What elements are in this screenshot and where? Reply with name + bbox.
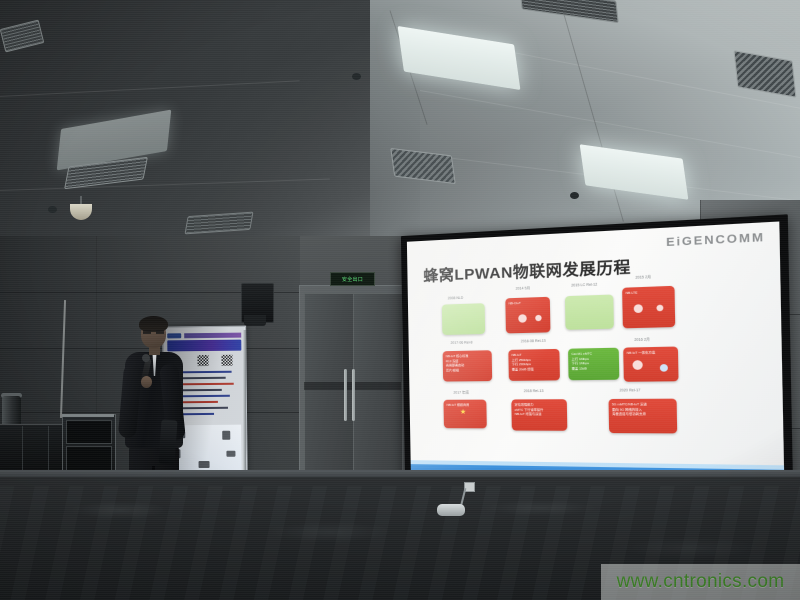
timeline-node — [565, 294, 614, 329]
node-label: 2016 2月 — [634, 336, 650, 342]
banner-device-thumb — [222, 431, 230, 440]
wall-speaker-bracket — [244, 315, 266, 326]
star-icon: ★ — [460, 408, 467, 416]
timeline-node: Cat-M1 eMTC 上行 1Mbps 下行 1Mbps 覆盖 15dB — [568, 348, 619, 381]
slide-logo-text: EiGENCOMM — [666, 231, 765, 249]
node-label: 2018 Rel-13 — [524, 389, 544, 393]
projection-screen: EiGENCOMM 蜂窝LPWAN物联网发展历程 2008 NLD 2014 5… — [401, 214, 793, 490]
node-label: 2015 LC Rel-12 — [571, 282, 597, 287]
photo-scene: 安全出口 — [0, 0, 800, 600]
projection-screen-surface: EiGENCOMM 蜂窝LPWAN物联网发展历程 2008 NLD 2014 5… — [407, 221, 784, 482]
exit-sign-label: 安全出口 — [342, 276, 363, 283]
exit-sign: 安全出口 — [330, 272, 375, 286]
qr-code-icon — [221, 355, 232, 366]
door-handle-left[interactable] — [344, 369, 347, 421]
floor-baseboard — [0, 470, 800, 477]
water-urn — [2, 396, 21, 426]
node-label: 2016-08 Rel-13 — [521, 339, 546, 344]
node-label: 2014 5月 — [516, 285, 531, 291]
timeline-node: NB-CIoT — [505, 297, 550, 334]
timeline-node: NB-IoT 一体化方案 — [623, 347, 678, 382]
node-label: 2008 NLD — [448, 296, 464, 301]
smoke-detector-icon — [352, 73, 361, 80]
timeline-node: 5G mMTC/NB-IoT 演进 面向 5G 网络的接入 海量连接与低功耗支持 — [609, 399, 678, 434]
watermark-text: www.cntronics.com — [617, 571, 785, 593]
slide-title: 蜂窝LPWAN物联网发展历程 — [423, 255, 631, 286]
glasses-icon — [143, 330, 164, 334]
banner-device-thumb — [199, 461, 210, 468]
watermark: www.cntronics.com — [601, 564, 800, 600]
timeline-node: NB-LTE — [622, 286, 675, 329]
node-label: 2017-06 Rel-8 — [451, 340, 473, 345]
microphone-head-icon — [142, 354, 150, 362]
cabinet-door-seam — [22, 426, 23, 470]
presenter-bag — [158, 419, 177, 464]
equipment-rack-top — [62, 414, 114, 417]
node-bullet-icon — [660, 364, 668, 372]
equipment-rack-bay — [66, 420, 112, 444]
node-label: 2017 年底 — [453, 389, 469, 394]
smoke-detector-icon — [570, 192, 579, 199]
timeline-node: 定位增强能力 eMTC 下行速率提升 NB-IoT 增强与演进 — [511, 399, 567, 431]
node-label: 2015 2月 — [635, 274, 651, 280]
node-bullet-icon — [632, 360, 642, 370]
slide-logo: EiGENCOMM — [666, 231, 765, 249]
timeline-node — [442, 303, 485, 335]
door-handle-right[interactable] — [352, 369, 355, 421]
banner-device-thumb — [226, 451, 235, 457]
floor-power-box — [437, 504, 465, 516]
smoke-detector-icon — [48, 206, 57, 213]
timeline-node: NB-IoT 上行 250kbps 下行 230kbps 覆盖 20dB 增强 — [508, 349, 560, 381]
banner-subheadline-bar — [184, 332, 241, 338]
node-label: 2020 Rel-17 — [619, 388, 640, 392]
qr-code-icon — [197, 355, 208, 366]
cabinet-door-seam — [48, 426, 49, 470]
timeline-node: NB-IoT 核心标准 R13 冻结 商用部署启动 芯片/模组 — [443, 350, 493, 381]
presenter-hand — [141, 376, 152, 388]
